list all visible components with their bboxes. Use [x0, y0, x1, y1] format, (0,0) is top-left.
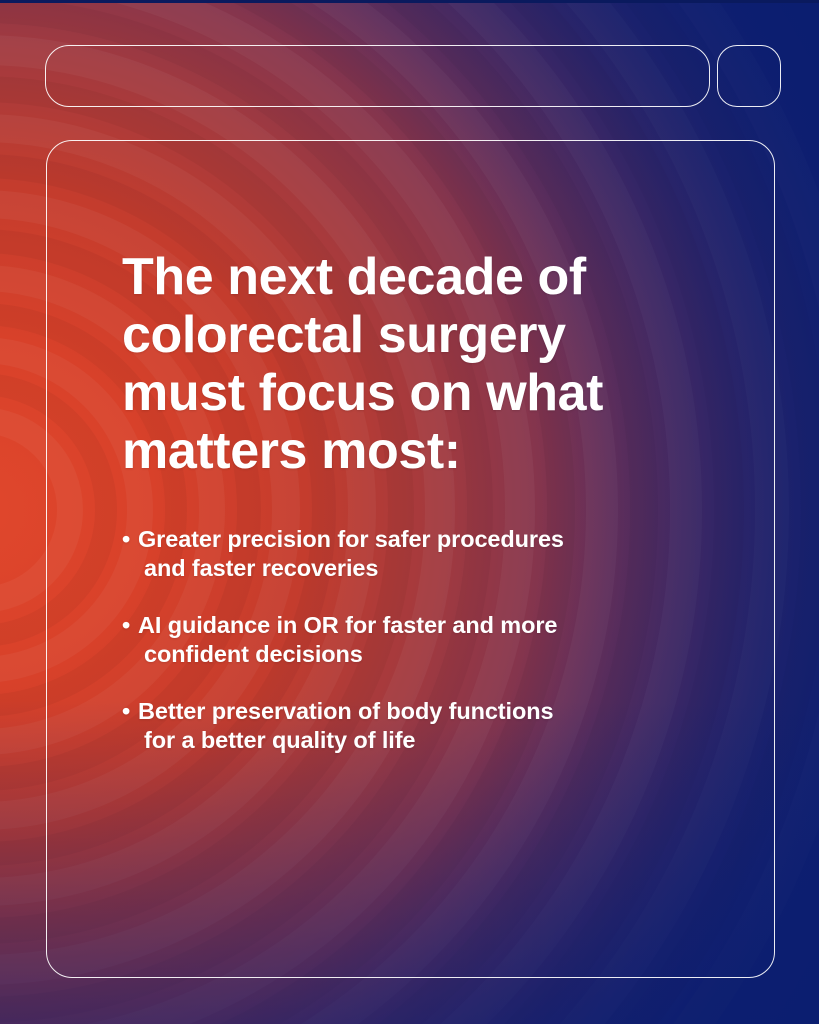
- page-title-line-2: colorectal surgery: [122, 306, 662, 364]
- page-title-line-3: must focus on what: [122, 364, 662, 422]
- page-title: The next decade of colorectal surgery mu…: [122, 248, 662, 480]
- slide-canvas: The next decade of colorectal surgery mu…: [0, 0, 819, 1024]
- header-square-button-frame[interactable]: [717, 45, 781, 107]
- header-bar-frame[interactable]: [45, 45, 710, 107]
- top-edge-strip: [0, 0, 819, 3]
- bullet-dot-icon: •: [122, 525, 130, 554]
- content-block: The next decade of colorectal surgery mu…: [122, 248, 662, 755]
- list-item-text: AI guidance in OR for faster and more co…: [138, 611, 668, 669]
- list-item-line-2: confident decisions: [138, 640, 668, 669]
- bullet-dot-icon: •: [122, 611, 130, 640]
- list-item-line-1: Better preservation of body functions: [138, 697, 668, 726]
- list-item-text: Greater precision for safer procedures a…: [138, 525, 668, 583]
- bullet-dot-icon: •: [122, 697, 130, 726]
- page-title-line-1: The next decade of: [122, 248, 662, 306]
- list-item: • AI guidance in OR for faster and more …: [122, 611, 668, 669]
- list-item-line-2: for a better quality of life: [138, 726, 668, 755]
- list-item: • Better preservation of body functions …: [122, 697, 668, 755]
- list-item-line-1: AI guidance in OR for faster and more: [138, 611, 668, 640]
- list-item-line-1: Greater precision for safer procedures: [138, 525, 668, 554]
- list-item-text: Better preservation of body functions fo…: [138, 697, 668, 755]
- bullet-list: • Greater precision for safer procedures…: [122, 525, 662, 755]
- list-item: • Greater precision for safer procedures…: [122, 525, 668, 583]
- list-item-line-2: and faster recoveries: [138, 554, 668, 583]
- page-title-line-4: matters most:: [122, 422, 662, 480]
